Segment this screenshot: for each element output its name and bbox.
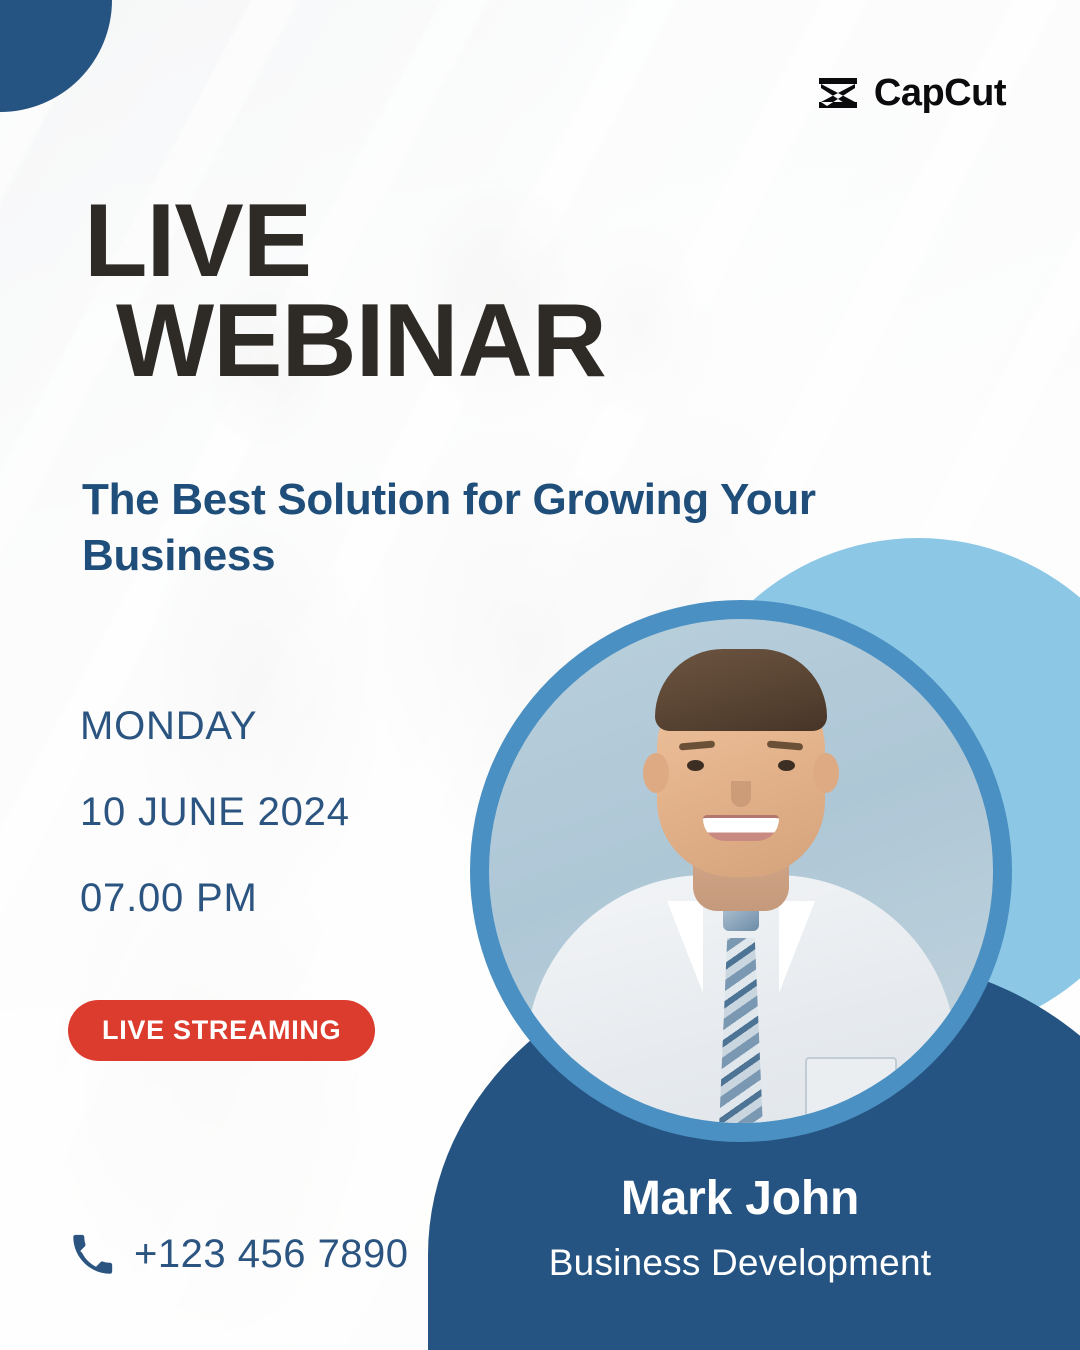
- live-streaming-badge[interactable]: LIVE STREAMING: [68, 1000, 375, 1061]
- title-line-2: WEBINAR: [116, 292, 606, 392]
- poster-content: CapCut LIVE WEBINAR The Best Solution fo…: [0, 0, 1080, 1350]
- title-line-1: LIVE: [84, 183, 311, 299]
- schedule-day: MONDAY: [80, 706, 350, 746]
- webinar-poster: CapCut LIVE WEBINAR The Best Solution fo…: [0, 0, 1080, 1350]
- capcut-clapper-icon: [815, 76, 861, 110]
- schedule-block: MONDAY 10 JUNE 2024 07.00 PM: [80, 706, 350, 918]
- contact-phone[interactable]: +123 456 7890: [70, 1232, 409, 1277]
- speaker-role: Business Development: [440, 1238, 1040, 1288]
- schedule-time: 07.00 PM: [80, 878, 350, 918]
- speaker-name: Mark John: [440, 1170, 1040, 1228]
- page-subtitle: The Best Solution for Growing Your Busin…: [82, 472, 862, 585]
- phone-number-text: +123 456 7890: [134, 1232, 409, 1277]
- phone-handset-icon: [70, 1233, 114, 1277]
- schedule-date: 10 JUNE 2024: [80, 792, 350, 832]
- speaker-info: Mark John Business Development: [440, 1170, 1040, 1288]
- page-title: LIVE WEBINAR: [84, 192, 606, 392]
- capcut-logo: CapCut: [815, 74, 1006, 112]
- capcut-logo-text: CapCut: [874, 74, 1006, 112]
